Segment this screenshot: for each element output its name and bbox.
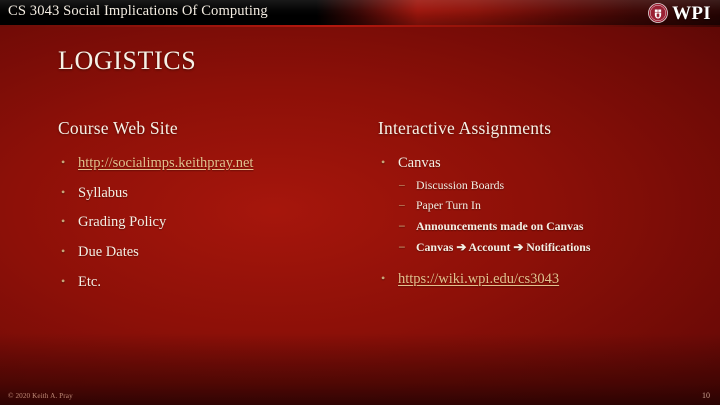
bullet-marker-icon: • (61, 185, 65, 201)
list-item-label: Due Dates (78, 244, 139, 260)
sub-list-item-label: Announcements made on Canvas (416, 219, 583, 233)
sub-list-item: – Discussion Boards (398, 178, 688, 193)
course-title: CS 3043 Social Implications Of Computing (8, 3, 268, 20)
bullet-marker-icon: • (61, 214, 65, 230)
bullet-marker-icon: • (61, 155, 65, 171)
wpi-seal-icon (648, 3, 668, 23)
list-item: • Syllabus (58, 185, 358, 202)
bullet-marker-icon: • (381, 271, 385, 287)
wpi-wordmark: WPI (672, 4, 711, 23)
course-site-link[interactable]: http://socialimps.keithpray.net (78, 155, 253, 171)
wiki-link[interactable]: https://wiki.wpi.edu/cs3043 (398, 271, 559, 287)
header-underline (0, 25, 720, 27)
dash-marker-icon: – (399, 219, 405, 233)
column-course-web-site: Course Web Site • http://socialimps.keit… (58, 118, 358, 303)
sub-list-item: – Canvas ➔ Account ➔ Notifications (398, 240, 688, 255)
dash-marker-icon: – (399, 240, 405, 254)
slide-page-number: 10 (702, 391, 710, 400)
sub-list-item-label: Canvas ➔ Account ➔ Notifications (416, 240, 590, 254)
list-item-label: Etc. (78, 274, 101, 290)
footer-vignette (0, 333, 720, 405)
sub-list-item-label: Paper Turn In (416, 198, 481, 212)
list-item: • https://wiki.wpi.edu/cs3043 (378, 271, 688, 288)
presentation-slide: CS 3043 Social Implications Of Computing… (0, 0, 720, 405)
list-item: • Grading Policy (58, 214, 358, 231)
list-item: • Due Dates (58, 244, 358, 261)
list-item-label: Canvas (398, 155, 441, 171)
sub-bullet-list: – Discussion Boards – Paper Turn In – An… (398, 178, 688, 255)
bullet-marker-icon: • (61, 274, 65, 290)
list-item: • Canvas – Discussion Boards – Paper Tur… (378, 155, 688, 255)
column-interactive-assignments: Interactive Assignments • Canvas – Discu… (378, 118, 688, 300)
list-item-label: Syllabus (78, 185, 128, 201)
wpi-logo: WPI (648, 1, 711, 25)
list-item-label: Grading Policy (78, 214, 166, 230)
bullet-marker-icon: • (61, 244, 65, 260)
bullet-list-right: • Canvas – Discussion Boards – Paper Tur… (378, 155, 688, 287)
dash-marker-icon: – (399, 198, 405, 212)
column-heading-right: Interactive Assignments (378, 118, 688, 139)
footer-copyright: © 2020 Keith A. Pray (8, 392, 73, 400)
slide-title: LOGISTICS (58, 46, 196, 76)
list-item: • Etc. (58, 274, 358, 291)
dash-marker-icon: – (399, 178, 405, 192)
sub-list-item: – Paper Turn In (398, 198, 688, 213)
sub-list-item-label: Discussion Boards (416, 178, 504, 192)
column-heading-left: Course Web Site (58, 118, 358, 139)
list-item: • http://socialimps.keithpray.net (58, 155, 358, 172)
sub-list-item: – Announcements made on Canvas (398, 219, 688, 234)
bullet-marker-icon: • (381, 155, 385, 171)
slide-header-banner: CS 3043 Social Implications Of Computing… (0, 0, 720, 27)
bullet-list-left: • http://socialimps.keithpray.net • Syll… (58, 155, 358, 290)
